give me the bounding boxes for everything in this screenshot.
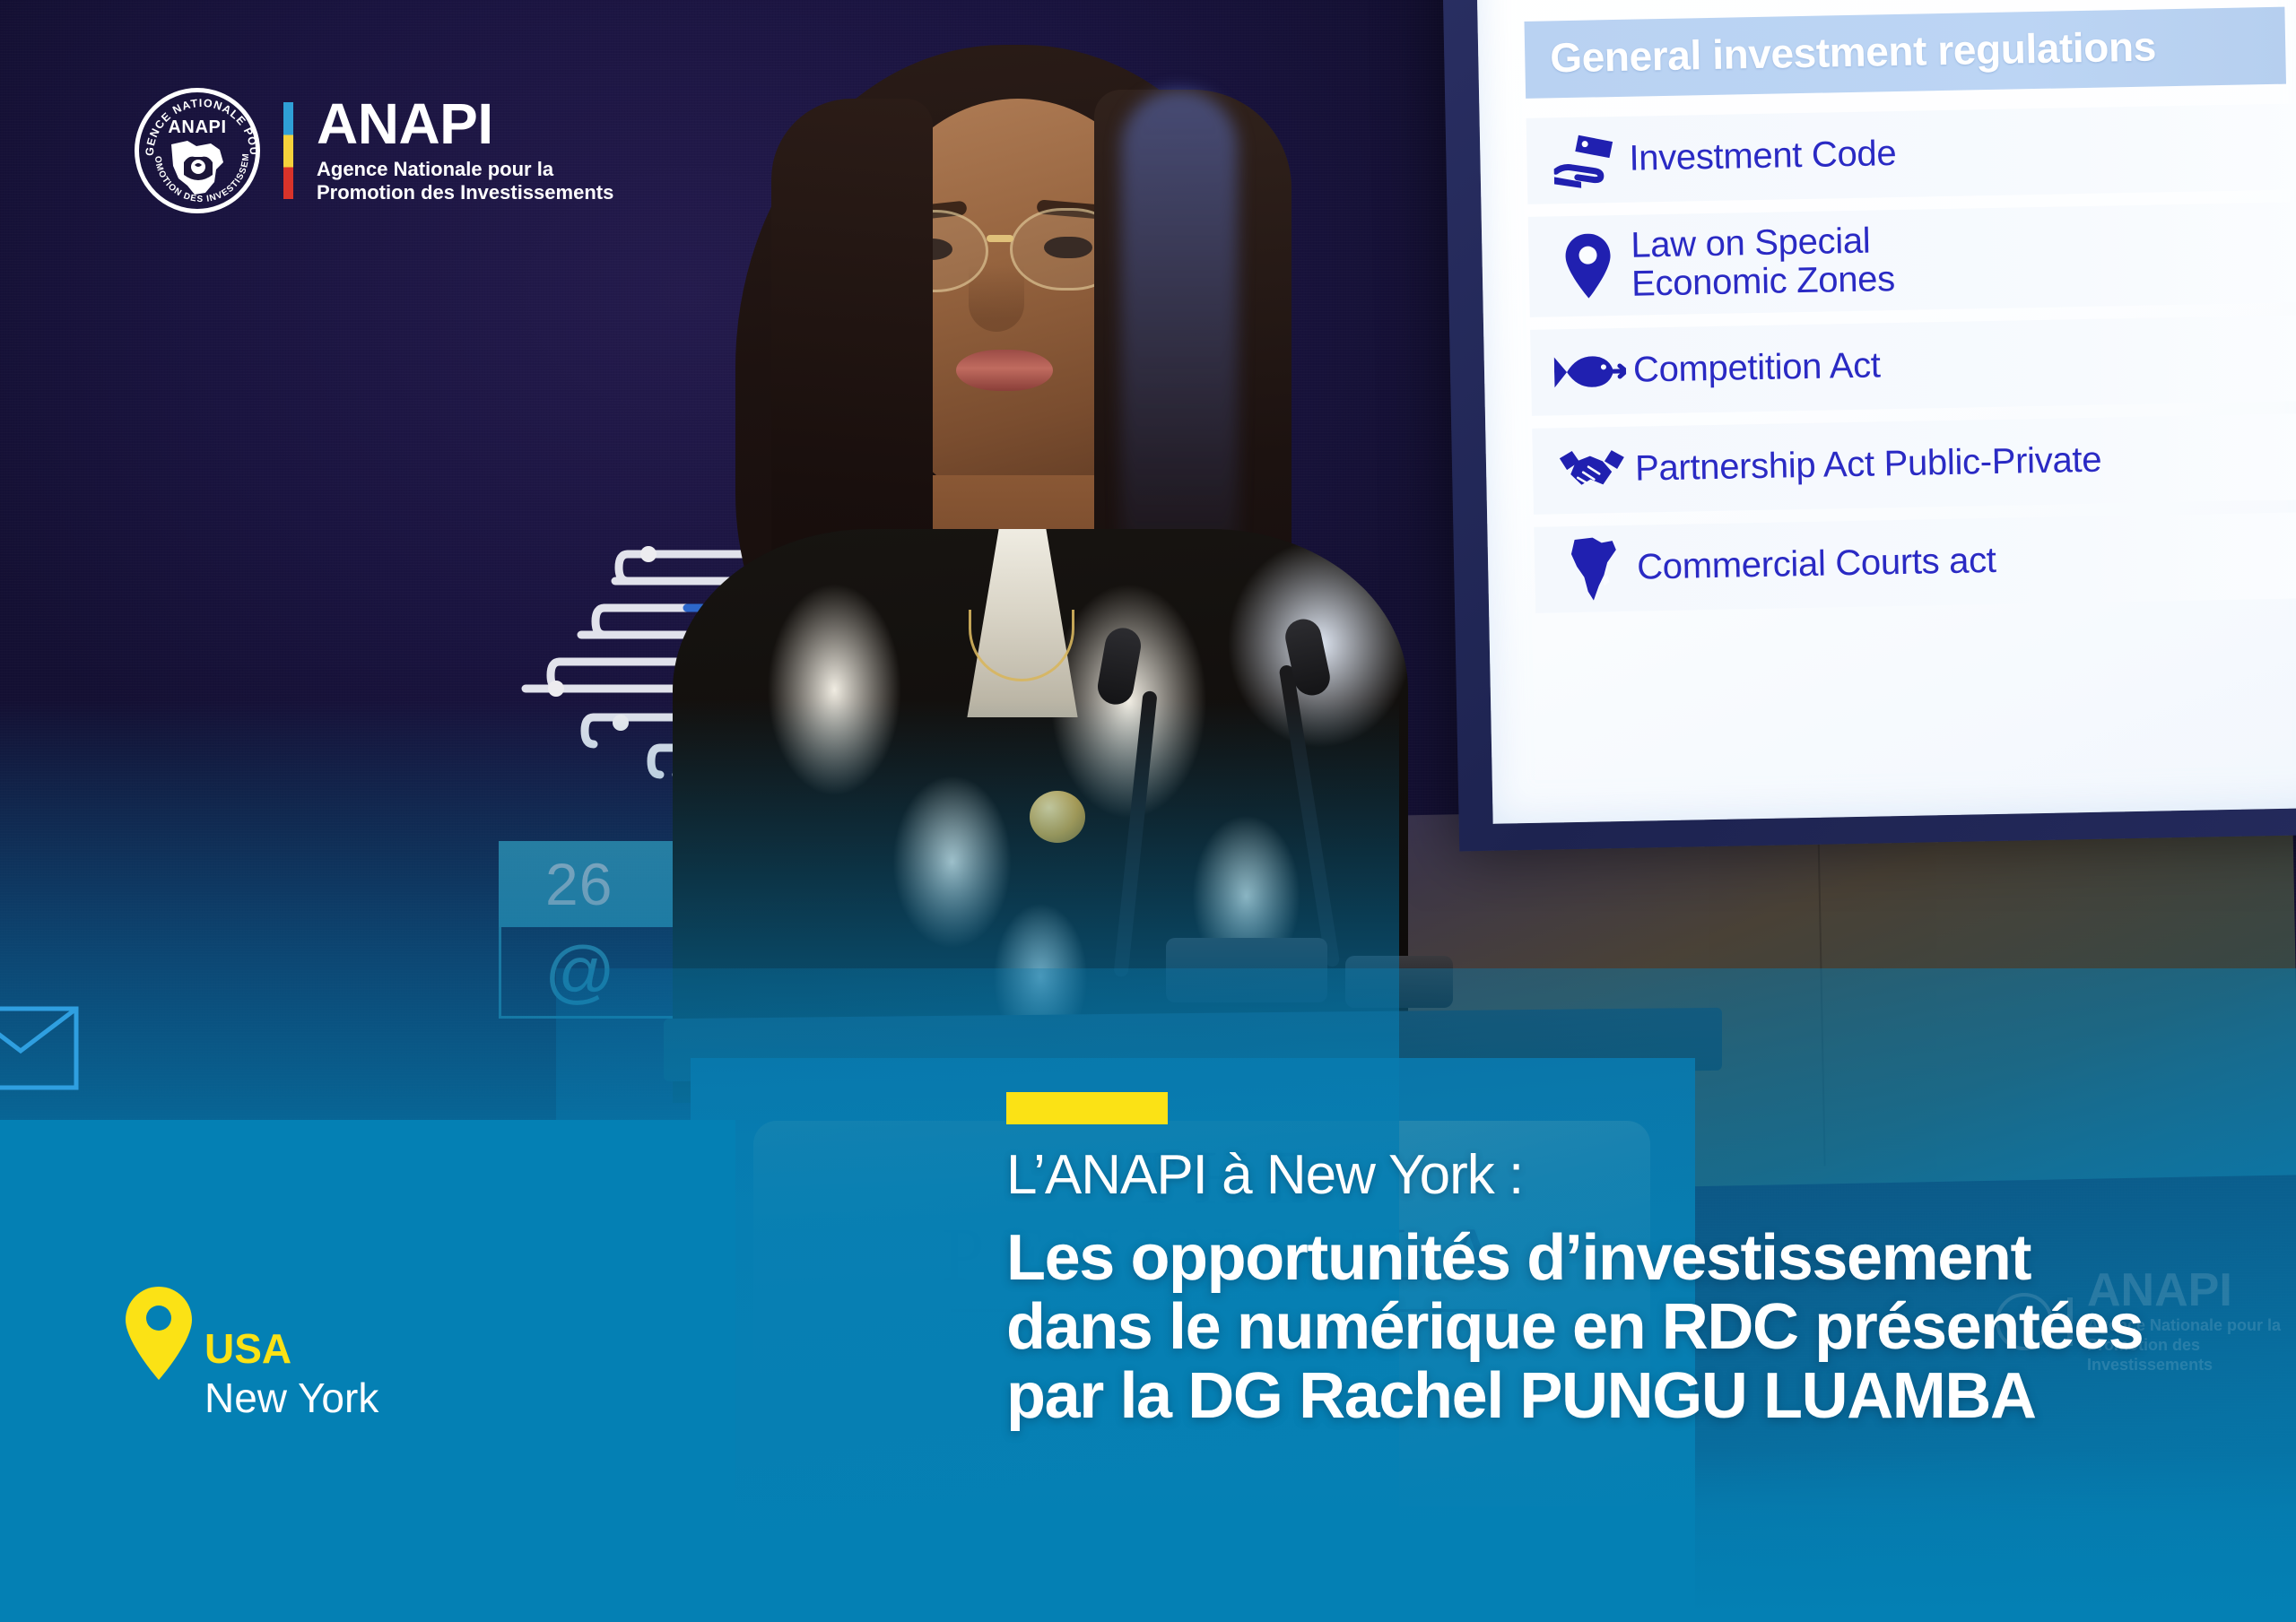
slide-row: Commercial Courts act	[1534, 512, 2296, 613]
anapi-subtitle-line1: Agence Nationale pour la	[317, 158, 613, 181]
drc-flag-bar-icon	[283, 102, 293, 199]
yellow-accent-tab	[1006, 1092, 1168, 1124]
slide-content: The country has opted for a liberal eco …	[1475, 0, 2296, 824]
slide-row: Competition Act	[1530, 315, 2296, 416]
anapi-seal-icon: AGENCE NATIONALE POUR LA PROMOTION DES I…	[135, 88, 260, 213]
envelope-icon	[0, 1006, 79, 1090]
headline-line-3: par la DG Rachel PUNGU LUAMBA	[1006, 1362, 2172, 1431]
slide-row: Partnership Act Public-Private	[1532, 413, 2296, 515]
drc-map-with-hands-icon	[164, 139, 230, 196]
brand-blue-panel-bottom	[0, 1452, 2296, 1622]
location-text: USA New York	[204, 1287, 378, 1422]
slide-row-label: Investment Code	[1629, 134, 1897, 178]
headline-block: L’ANAPI à New York : Les opportunités d’…	[1006, 1146, 2172, 1431]
slide-row-label: Competition Act	[1633, 347, 1881, 390]
headline-line-1: Les opportunités d’investissement	[1006, 1224, 2172, 1293]
location-badge: USA New York	[126, 1287, 378, 1422]
slide-row-label-line2: Economic Zones	[1631, 260, 1895, 304]
slide-row-label-line1: Law on Special	[1631, 221, 1894, 265]
anapi-subtitle-line2: Promotion des Investissements	[317, 181, 613, 204]
slide-section-banner-label: General investment regulations	[1550, 22, 2157, 81]
anapi-subtitle: Agence Nationale pour la Promotion des I…	[317, 158, 613, 204]
anapi-acronym: ANAPI	[317, 97, 613, 152]
presentation-screen: The country has opted for a liberal eco …	[1475, 0, 2296, 824]
location-country: USA	[204, 1328, 378, 1369]
africa-map-icon	[1551, 535, 1638, 603]
slide-regulation-list: Investment Code Law on Special Econ	[1526, 103, 2296, 613]
anapi-seal-word: ANAPI	[168, 117, 226, 138]
slide-row-label: Commercial Courts act	[1637, 542, 1996, 587]
slide-row-label: Partnership Act Public-Private	[1635, 441, 2102, 489]
presentation-screen-frame: The country has opted for a liberal eco …	[1441, 0, 2296, 852]
fish-icon	[1547, 351, 1634, 394]
headline-main: Les opportunités d’investissement dans l…	[1006, 1224, 2172, 1431]
slide-row-label-multiline: Law on Special Economic Zones	[1631, 221, 1895, 304]
poster-canvas: The country has opted for a liberal eco …	[0, 0, 2296, 1622]
location-city: New York	[204, 1375, 378, 1422]
slide-row: Law on Special Economic Zones	[1528, 202, 2296, 317]
speaker-hair-sheen	[1121, 90, 1238, 592]
speaker-lips	[956, 350, 1053, 391]
headline-line-2: dans le numérique en RDC présentées	[1006, 1293, 2172, 1362]
map-pin-icon	[126, 1287, 192, 1380]
eyeglasses-bridge	[987, 235, 1013, 242]
slide-section-banner: General investment regulations	[1525, 7, 2286, 99]
headline-kicker: L’ANAPI à New York :	[1006, 1146, 2172, 1204]
slide-row: Investment Code	[1526, 103, 2296, 204]
anapi-logo-text: ANAPI Agence Nationale pour la Promotion…	[317, 97, 613, 205]
handshake-icon	[1549, 445, 1636, 497]
anapi-logo: AGENCE NATIONALE POUR LA PROMOTION DES I…	[135, 88, 613, 213]
map-pin-icon	[1544, 233, 1631, 299]
money-in-hand-icon	[1543, 131, 1630, 190]
